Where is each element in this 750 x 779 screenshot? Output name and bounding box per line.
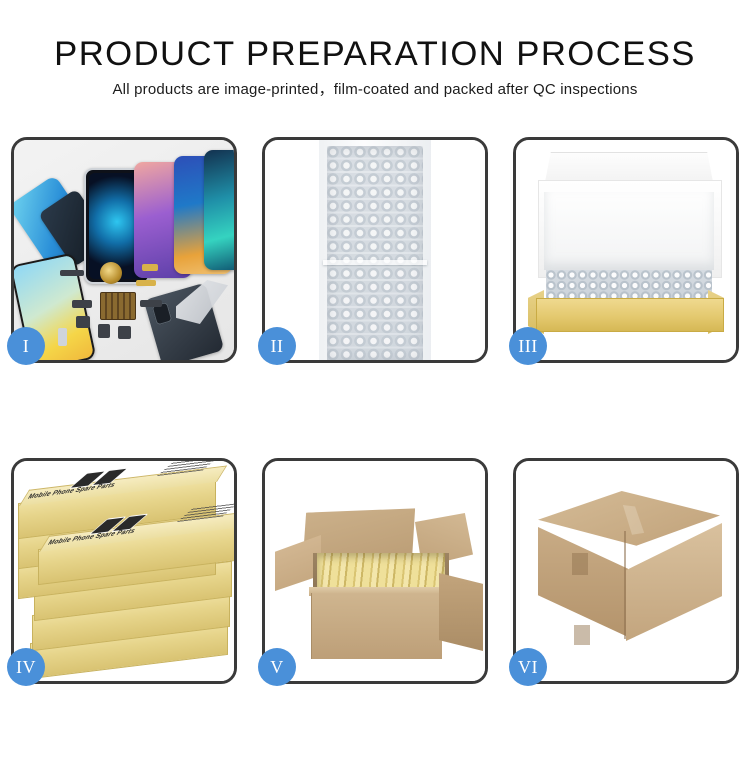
- step-panel-3[interactable]: III: [513, 137, 739, 363]
- step-badge-6: VI: [509, 648, 547, 686]
- small-part-d: [72, 300, 92, 308]
- step-panel-6[interactable]: VI: [513, 458, 739, 684]
- box-stack: Mobile Phone Spare Parts Mobile Phone Sp…: [18, 481, 234, 667]
- carton-left-face: [538, 527, 628, 637]
- small-part-e: [76, 316, 90, 328]
- step-panel-5[interactable]: V: [262, 458, 488, 684]
- process-row-bottom: Mobile Phone Spare Parts Mobile Phone Sp…: [0, 458, 750, 684]
- small-part-a: [60, 270, 84, 276]
- header: PRODUCT PREPARATION PROCESS All products…: [0, 34, 750, 100]
- page-title: PRODUCT PREPARATION PROCESS: [0, 34, 750, 74]
- process-row-top: I II: [0, 137, 750, 363]
- step-panel-1[interactable]: I: [11, 137, 237, 363]
- step-badge-4: IV: [7, 648, 45, 686]
- carton-vertical-seam: [624, 531, 626, 639]
- step-6-image: [516, 461, 736, 681]
- step-3-image: [516, 140, 736, 360]
- small-part-b: [142, 264, 158, 271]
- step-badge-2: II: [258, 327, 296, 365]
- screw-mat-part: [100, 292, 136, 320]
- speaker-coil-part: [100, 262, 122, 284]
- product-preparation-infographic: PRODUCT PREPARATION PROCESS All products…: [0, 0, 750, 750]
- small-part-c: [136, 280, 156, 286]
- tweezers-tool: [176, 280, 228, 324]
- step-panel-2[interactable]: II: [262, 137, 488, 363]
- small-part-g: [118, 326, 131, 339]
- carton-front-panel: [311, 593, 442, 659]
- small-part-f: [98, 324, 110, 338]
- foam-sheet: [544, 192, 714, 270]
- step-2-image: [265, 140, 485, 360]
- page-subtitle: All products are image-printed，film-coat…: [0, 80, 750, 100]
- small-part-i: [58, 328, 67, 346]
- small-part-h: [140, 300, 162, 307]
- step-badge-1: I: [7, 327, 45, 365]
- box-front-panel: [536, 298, 724, 332]
- step-1-image: [14, 140, 234, 360]
- box-top-face: [19, 465, 227, 506]
- step-badge-5: V: [258, 648, 296, 686]
- bubble-wrap: [327, 146, 423, 360]
- sleeve-seam: [323, 260, 427, 265]
- carton-side-panel: [439, 573, 483, 651]
- carton-handle-notch-bottom: [574, 625, 590, 645]
- step-5-image: [265, 461, 485, 681]
- step-panel-4[interactable]: Mobile Phone Spare Parts Mobile Phone Sp…: [11, 458, 237, 684]
- step-4-image: Mobile Phone Spare Parts Mobile Phone Sp…: [14, 461, 234, 681]
- box-spec-lines: [157, 461, 219, 476]
- process-steps-grid: I II: [0, 137, 750, 779]
- step-badge-3: III: [509, 327, 547, 365]
- phone-teal: [204, 150, 234, 270]
- bubble-wrapped-product: [546, 270, 712, 300]
- carton-handle-notch-top: [572, 553, 588, 575]
